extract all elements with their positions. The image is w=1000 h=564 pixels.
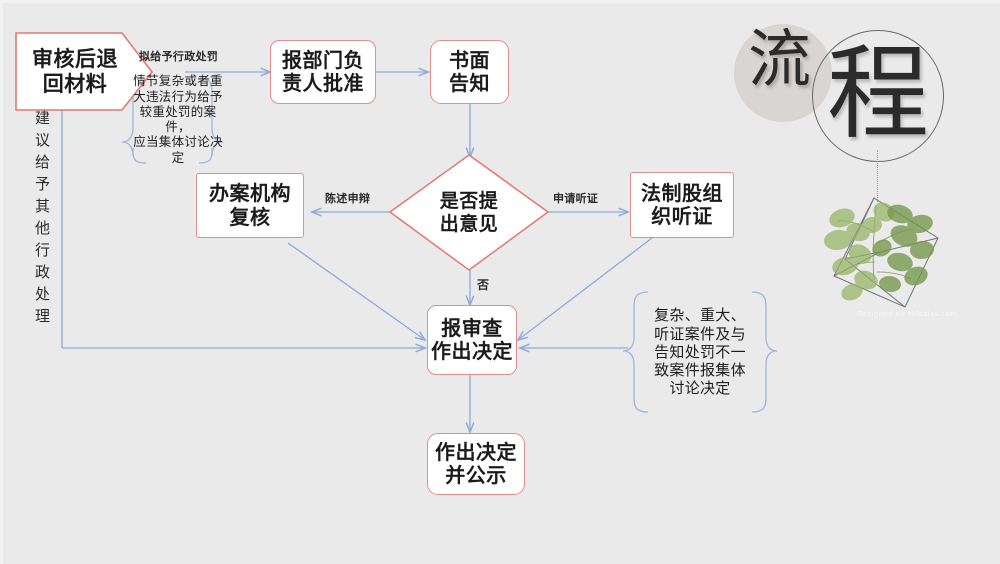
node-decision-opinion[interactable]: 是否提 出意见 bbox=[390, 155, 548, 270]
note-complex-major: 复杂、重大、 听证案件及与 告知处罚不一 致案件报集体 讨论决定 bbox=[640, 292, 760, 412]
node-report-review-decide[interactable]: 报审查 作出决定 bbox=[427, 305, 517, 375]
node-return-materials-label: 审核后退 回材料 bbox=[16, 47, 152, 96]
decor-dotted-line bbox=[877, 150, 878, 202]
decor-glyph-liu: 流 bbox=[748, 28, 811, 91]
node-legal-section-hearing[interactable]: 法制股组 织听证 bbox=[630, 172, 734, 238]
edge-label-statement-defense: 陈述申辩 bbox=[325, 190, 370, 206]
node-decision-opinion-label: 是否提 出意见 bbox=[440, 190, 499, 234]
node-return-materials[interactable]: 审核后退 回材料 bbox=[16, 33, 152, 110]
decor-watermark: Designed by Miloslav.com bbox=[857, 310, 957, 318]
decor-glyph-cheng: 程 bbox=[827, 44, 929, 146]
node-make-decision-publicize[interactable]: 作出决定 并公示 bbox=[427, 433, 525, 495]
vertical-side-note: 建议给予其他行政处理 bbox=[34, 110, 49, 330]
edge-label-apply-hearing: 申请听证 bbox=[553, 190, 598, 206]
note-collective-discussion: 情节复杂或者重 大违法行为给予 较重处罚的案件， 应当集体讨论决 定 bbox=[133, 70, 223, 168]
edge-label-propose-admin-penalty: 拟给予行政处罚 bbox=[139, 48, 218, 64]
plant-decoration bbox=[823, 198, 938, 307]
flowchart-slide: 流 程 Designed by Miloslav.com 建议给予其他行政处理 … bbox=[0, 0, 1000, 564]
node-written-notice[interactable]: 书面 告知 bbox=[430, 40, 509, 104]
edge-label-no-branch: 否 bbox=[477, 276, 489, 293]
node-report-leader-approval[interactable]: 报部门负 责人批准 bbox=[270, 40, 376, 104]
node-case-agency-review[interactable]: 办案机构 复核 bbox=[196, 173, 304, 238]
